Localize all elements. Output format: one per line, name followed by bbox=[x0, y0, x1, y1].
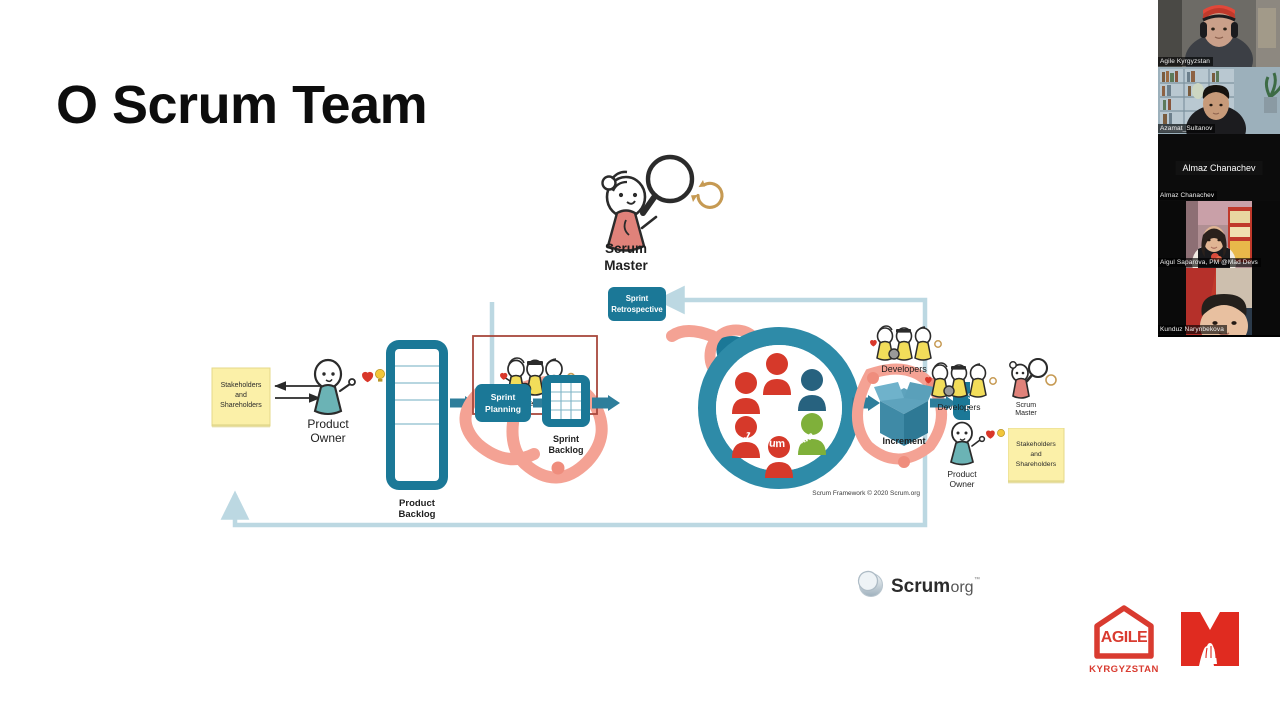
participant-name-label: Almaz Chanachev bbox=[1158, 191, 1217, 200]
scrumorg-wordmark: Scrum bbox=[891, 576, 950, 597]
presentation-slide: O Scrum Team bbox=[0, 0, 1160, 720]
participant-name-label: Kunduz Narynbekova bbox=[1158, 325, 1227, 334]
product-owner-left-label-2: Owner bbox=[310, 431, 345, 445]
product-owner-right-icon bbox=[951, 423, 984, 465]
video-participant-filmstrip[interactable]: Agile Kyrgyzstan bbox=[1158, 0, 1280, 337]
developers-far-right-icon bbox=[925, 363, 996, 397]
sponsor-logos: AGILE KYRGYZSTAN bbox=[1088, 604, 1248, 676]
svg-text:Stakeholders: Stakeholders bbox=[221, 382, 262, 389]
svg-text:and: and bbox=[1030, 451, 1042, 458]
product-owner-right-label-1: Product bbox=[947, 469, 977, 479]
product-owner-left-label-1: Product bbox=[307, 417, 349, 431]
sprint-retrospective-label-2: Retrospective bbox=[611, 305, 663, 314]
product-backlog-label-1: Product bbox=[399, 498, 436, 509]
video-tile-participant-4[interactable]: Aigul Saparova, PM @Mad Devs bbox=[1158, 201, 1280, 268]
sprint-retrospective-box: Sprint Retrospective bbox=[608, 287, 666, 321]
scrumorg-logo: Scrum .org ™ bbox=[850, 565, 980, 601]
stakeholders-right-sticky: Stakeholders and Shareholders bbox=[1008, 428, 1066, 486]
scrum-master-far-right-label-1: Scrum bbox=[1016, 402, 1036, 409]
participant-name-label: Agile Kyrgyzstan bbox=[1158, 57, 1213, 66]
product-backlog-label-2: Backlog bbox=[399, 509, 436, 520]
daily-scrum-arc bbox=[672, 331, 712, 336]
svg-text:Stakeholders: Stakeholders bbox=[1016, 441, 1056, 448]
sprint-retrospective-label-1: Sprint bbox=[626, 294, 649, 303]
sprint-planning-label-1: Sprint bbox=[491, 392, 516, 402]
svg-text:Shareholders: Shareholders bbox=[1016, 461, 1057, 468]
svg-text:Shareholders: Shareholders bbox=[220, 402, 262, 409]
screen-root: O Scrum Team bbox=[0, 0, 1280, 720]
stakeholders-left-sticky: Stakeholders and Shareholders bbox=[212, 368, 270, 428]
sprint-backlog-shape bbox=[542, 375, 590, 427]
agile-logo-line1: AGILE bbox=[1101, 629, 1148, 646]
scrum-master-far-right-label-2: Master bbox=[1015, 410, 1037, 417]
video-tile-participant-2[interactable]: Azamat_Sultanov bbox=[1158, 67, 1280, 134]
diagram-copyright: Scrum Framework © 2020 Scrum.org bbox=[812, 489, 920, 497]
participant-center-name: Almaz Chanachev bbox=[1175, 161, 1262, 175]
agile-kyrgyzstan-logo: AGILE KYRGYZSTAN bbox=[1089, 608, 1159, 675]
product-backlog-shape bbox=[386, 340, 448, 490]
scrum-team-circle: 1 Scrum Team bbox=[707, 336, 851, 480]
sprint-planning-label-2: Planning bbox=[485, 404, 521, 414]
product-owner-right-label-2: Owner bbox=[949, 479, 974, 489]
scrum-framework-diagram: Scrum Master Stakeholders and Shareholde… bbox=[180, 150, 970, 550]
agile-logo-line2: KYRGYZSTAN bbox=[1089, 664, 1159, 675]
sprint-planning-box: Sprint Planning bbox=[475, 384, 531, 422]
participant-name-label: Azamat_Sultanov bbox=[1158, 124, 1215, 133]
scrum-master-top-label-line2: Master bbox=[604, 258, 648, 273]
video-tile-participant-3[interactable]: Almaz Chanachev Almaz Chanachev bbox=[1158, 134, 1280, 201]
sprint-backlog-label-2: Backlog bbox=[548, 445, 583, 455]
participant-name-label: Aigul Saparova, PM @Mad Devs bbox=[1158, 258, 1261, 267]
scrum-master-far-right-icon bbox=[1010, 359, 1056, 398]
developers-far-right-label: Developers bbox=[938, 402, 981, 412]
page-title: O Scrum Team bbox=[56, 76, 427, 135]
video-tile-participant-5[interactable]: Kunduz Narynbekova bbox=[1158, 268, 1280, 335]
scrumorg-suffix: .org bbox=[946, 579, 974, 596]
svg-text:and: and bbox=[235, 392, 247, 399]
video-tile-participant-1[interactable]: Agile Kyrgyzstan bbox=[1158, 0, 1280, 67]
product-owner-left-icon bbox=[315, 360, 355, 414]
scrum-master-top-label-line1: Scrum bbox=[605, 241, 647, 256]
sprint-backlog-label-1: Sprint bbox=[553, 434, 579, 444]
scrumorg-trademark: ™ bbox=[974, 576, 980, 583]
mad-devs-logo bbox=[1181, 612, 1239, 666]
scrum-master-top-icon bbox=[603, 157, 723, 251]
